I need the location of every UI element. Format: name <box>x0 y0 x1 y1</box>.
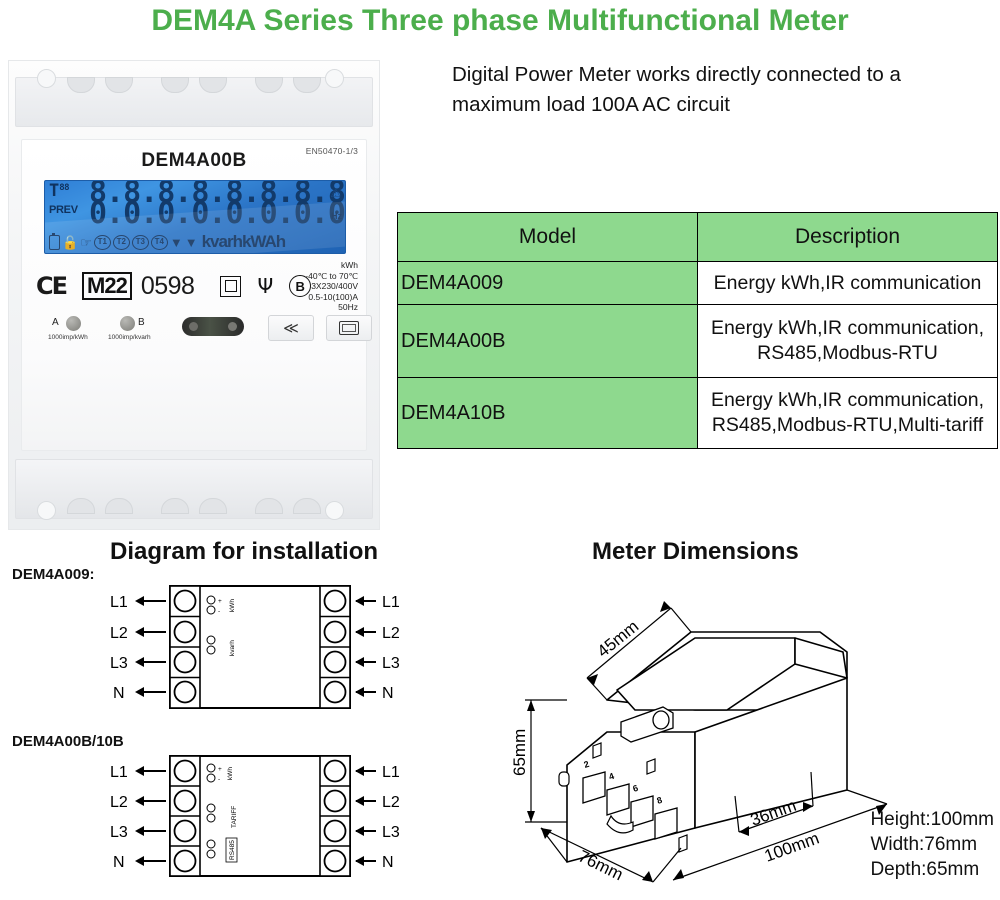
led-a-sublabel: 1000imp/kWh <box>48 334 88 341</box>
tariff-t4-icon: T4 <box>151 235 168 250</box>
table-header-row: Model Description <box>398 213 998 262</box>
dimension-depth: Depth:65mm <box>870 857 994 882</box>
lcd-tariff-label: T <box>49 183 59 200</box>
svg-text:TARIFF: TARIFF <box>231 806 238 828</box>
svg-text:N: N <box>382 685 394 702</box>
led-a-indicator <box>66 316 81 331</box>
wiring-diagram-dem4a00b-10b: L1 L2 L3 N L1 L2 L3 N <box>108 752 438 880</box>
svg-text:L1: L1 <box>110 594 128 611</box>
led-b-sublabel: 1000imp/kvarh <box>108 334 151 341</box>
mount-screw-hole <box>325 69 344 88</box>
intro-paragraph: Digital Power Meter works directly conne… <box>452 60 992 120</box>
spec-line-current: 0.5-10(100)A <box>266 292 358 303</box>
svg-text:+: + <box>218 766 222 773</box>
cell-description: Energy kWh,IR communication <box>698 262 998 305</box>
svg-text:L3: L3 <box>110 655 128 672</box>
notified-body-number: 0598 <box>141 272 195 301</box>
svg-text:L3: L3 <box>382 824 400 841</box>
svg-text:L2: L2 <box>382 625 400 642</box>
tariff-t1-icon: T1 <box>94 235 111 250</box>
svg-text:L1: L1 <box>382 594 400 611</box>
mount-screw-hole <box>37 501 56 520</box>
svg-text:L2: L2 <box>382 794 400 811</box>
tariff-t3-icon: T3 <box>132 235 149 250</box>
cell-model: DEM4A10B <box>398 378 698 449</box>
svg-text:kWh: kWh <box>229 599 236 612</box>
mount-screw-hole <box>37 69 56 88</box>
dimensions-summary: Height:100mm Width:76mm Depth:65mm <box>870 807 994 882</box>
spec-line-frequency: 50Hz <box>266 302 358 313</box>
lcd-prev-label: PREV <box>49 204 78 216</box>
svg-text:L2: L2 <box>110 794 128 811</box>
install-section-heading: Diagram for installation <box>110 538 378 566</box>
lcd-display: T 88 PREV 8.8.8.8.8.8.8.8 0.0.0.0.0.0.0.… <box>44 180 346 254</box>
lcd-units-label: kvarhkWAh <box>202 232 286 252</box>
meter-dimensions-drawing: 2 4 6 8 <box>495 560 1000 890</box>
display-toggle-button[interactable] <box>326 315 372 341</box>
battery-icon <box>49 235 60 250</box>
lcd-tariff-digits: 88 <box>59 184 69 193</box>
down-triangle-icon: ▼ <box>185 236 198 249</box>
svg-text:L2: L2 <box>110 625 128 642</box>
column-header-description: Description <box>698 213 998 262</box>
lcd-tariff-group: T 88 <box>49 183 69 200</box>
svg-text:kWh: kWh <box>227 767 234 780</box>
dimension-height: Height:100mm <box>870 807 994 832</box>
spec-line-temp: -40℃ to 70℃ <box>266 271 358 282</box>
svg-text:N: N <box>113 854 125 871</box>
page-title: DEM4A Series Three phase Multifunctional… <box>0 4 1000 38</box>
hand-icon: ☞ <box>80 236 92 249</box>
wiring-diagram-dem4a009: L1 L2 L3 N L1 L2 L3 N <box>108 582 438 712</box>
svg-text:L3: L3 <box>382 655 400 672</box>
cell-description: Energy kWh,IR communication, RS485,Modbu… <box>698 378 998 449</box>
column-header-model: Model <box>398 213 698 262</box>
double-insulation-icon <box>220 276 241 297</box>
cell-description: Energy kWh,IR communication, RS485,Modbu… <box>698 305 998 378</box>
led-b-indicator <box>120 316 135 331</box>
lcd-indicator-row: 🔓 ☞ T1 T2 T3 T4 ▼ ▼ kvarhkWAh <box>49 232 341 252</box>
mid-marking: M22 <box>82 272 132 300</box>
cell-model: DEM4A00B <box>398 305 698 378</box>
svg-text:L1: L1 <box>382 764 400 781</box>
product-spec-sheet: DEM4A Series Three phase Multifunctional… <box>0 0 1000 900</box>
mount-screw-hole <box>325 501 344 520</box>
table-row: DEM4A10B Energy kWh,IR communication, RS… <box>398 378 998 449</box>
meter-product-photo: DEM4A00B EN50470-1/3 T 88 PREV 8.8.8.8.8… <box>8 60 380 530</box>
warning-triangle-icon: ⚠ <box>330 187 341 199</box>
cell-model: DEM4A009 <box>398 262 698 305</box>
svg-text:-: - <box>218 776 220 783</box>
lcd-digits-row-2: 0.0.0.0.0.0.0.0 <box>89 203 345 225</box>
svg-text:100mm: 100mm <box>762 829 822 866</box>
ir-communication-port <box>182 317 244 336</box>
svg-text:N: N <box>113 685 125 702</box>
diagram1-label: DEM4A009: <box>12 566 95 583</box>
svg-text:L1: L1 <box>110 764 128 781</box>
scroll-back-button[interactable]: ≪ <box>268 315 314 341</box>
ce-mark-icon: CE <box>36 272 66 300</box>
spec-line-kwh: kWh <box>266 260 358 271</box>
electrical-spec-block: kWh -40℃ to 70℃ 3X230/400V 0.5-10(100)A … <box>266 260 358 313</box>
standard-code-label: EN50470-1/3 <box>306 146 358 156</box>
svg-text:65mm: 65mm <box>510 729 529 776</box>
led-a-label: A <box>52 317 59 328</box>
svg-text:45mm: 45mm <box>594 617 643 661</box>
tariff-t2-icon: T2 <box>113 235 130 250</box>
led-b-label: B <box>138 317 145 328</box>
dimension-width: Width:76mm <box>870 832 994 857</box>
spec-line-voltage: 3X230/400V <box>266 281 358 292</box>
model-description-table: Model Description DEM4A009 Energy kWh,IR… <box>397 212 998 449</box>
svg-text:N: N <box>382 854 394 871</box>
meter-front-panel: DEM4A00B EN50470-1/3 T 88 PREV 8.8.8.8.8… <box>21 139 367 451</box>
table-row: DEM4A009 Energy kWh,IR communication <box>398 262 998 305</box>
svg-text:RS485: RS485 <box>229 840 236 860</box>
svg-text:-: - <box>218 608 220 615</box>
svg-text:L3: L3 <box>110 824 128 841</box>
lcd-hz-label: Hz <box>331 211 342 221</box>
diagram2-label: DEM4A00B/10B <box>12 733 124 750</box>
svg-text:kvarh: kvarh <box>229 640 236 656</box>
led-and-button-area: A 1000imp/kWh B 1000imp/kvarh ≪ <box>52 315 352 355</box>
down-triangle-icon: ▼ <box>170 236 183 249</box>
table-row: DEM4A00B Energy kWh,IR communication, RS… <box>398 305 998 378</box>
svg-text:+: + <box>218 598 222 605</box>
open-lock-icon: 🔓 <box>62 236 78 249</box>
